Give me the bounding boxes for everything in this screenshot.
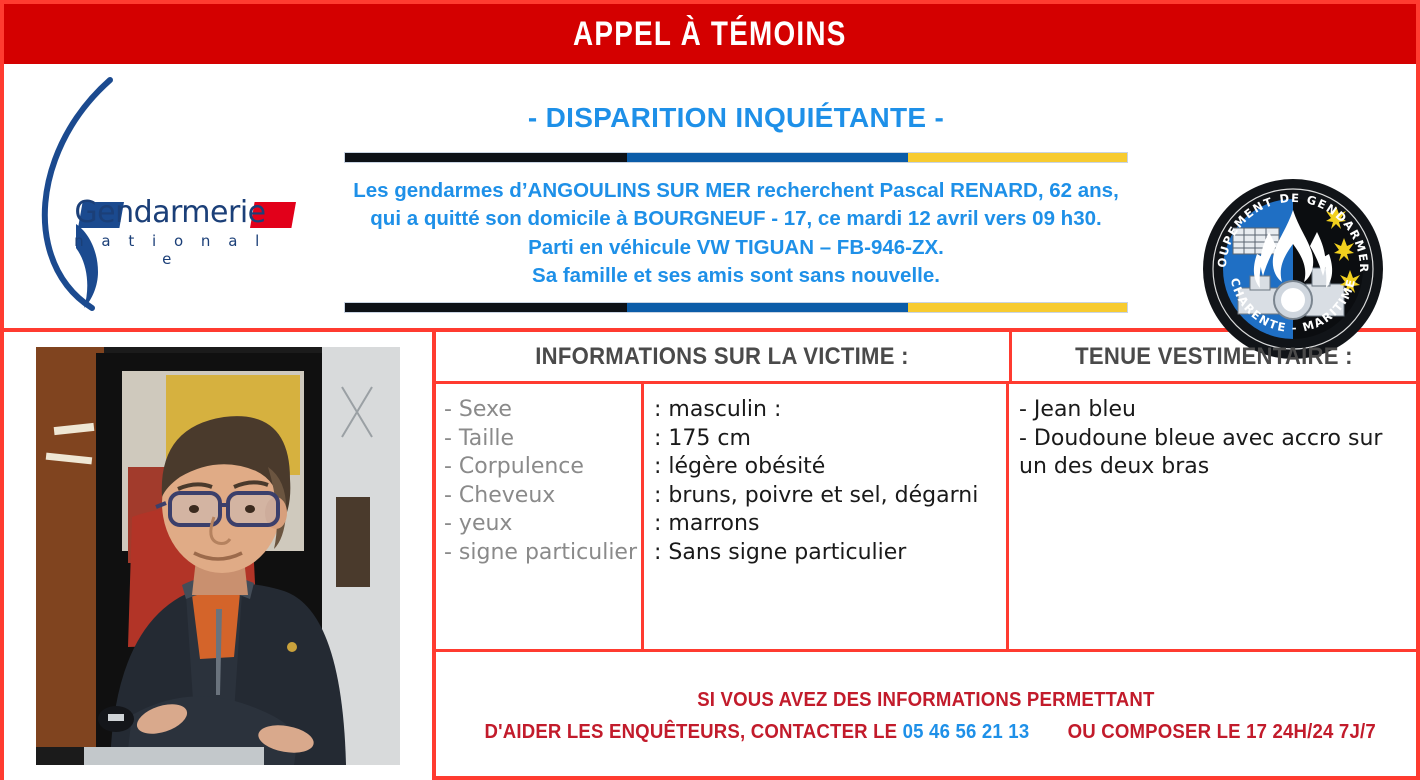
tricolor-segment-yellow	[908, 303, 1127, 312]
list-item: : Sans signe particulier	[654, 539, 1006, 568]
gendarmerie-nationale-logo: Gendarmerie n a t i o n a l e	[18, 74, 286, 314]
details-section: INFORMATIONS SUR LA VICTIME : TENUE VEST…	[4, 332, 1416, 780]
tricolor-segment-black	[345, 303, 627, 312]
notice-line-2: qui a quitté son domicile à BOURGNEUF - …	[266, 205, 1206, 233]
clothing-description: - Jean bleu - Doudoune bleue avec accro …	[1009, 384, 1413, 649]
victim-attribute-labels: - Sexe - Taille - Corpulence - Cheveux -…	[436, 384, 644, 649]
notice-line-1: Les gendarmes d’ANGOULINS SUR MER recher…	[266, 177, 1206, 205]
contact-text: SI VOUS AVEZ DES INFORMATIONS PERMETTANT…	[436, 684, 1416, 749]
victim-photo-illustration	[36, 347, 400, 765]
photo-cell	[4, 332, 436, 780]
notice-text-column: - DISPARITION INQUIÉTANTE - Les gendarme…	[266, 64, 1206, 332]
contact-line-2: D'AIDER LES ENQUÊTEURS, CONTACTER LE 05 …	[485, 716, 1030, 748]
contact-line-2-prefix: D'AIDER LES ENQUÊTEURS, CONTACTER LE	[485, 721, 903, 743]
logo-word: Gendarmerie	[70, 198, 270, 228]
logo-arc-icon	[18, 74, 286, 314]
victim-photo	[36, 347, 400, 765]
table-header-row: INFORMATIONS SUR LA VICTIME : TENUE VEST…	[436, 332, 1416, 384]
notice-headline: - DISPARITION INQUIÉTANTE -	[266, 102, 1206, 134]
header-victim-info: INFORMATIONS SUR LA VICTIME :	[436, 332, 1012, 384]
victim-attribute-values: : masculin : : 175 cm : légère obésité :…	[644, 384, 1009, 649]
list-item: - Jean bleu	[1019, 396, 1413, 425]
header-clothing: TENUE VESTIMENTAIRE :	[1012, 332, 1416, 384]
list-item: - Sexe	[444, 396, 641, 425]
list-item: : masculin :	[654, 396, 1006, 425]
details-table: INFORMATIONS SUR LA VICTIME : TENUE VEST…	[436, 332, 1416, 780]
tricolor-segment-black	[345, 153, 627, 162]
list-item: - Cheveux	[444, 482, 641, 511]
contact-line-1: SI VOUS AVEZ DES INFORMATIONS PERMETTANT	[697, 684, 1154, 716]
header-clothing-label: TENUE VESTIMENTAIRE :	[1075, 343, 1353, 371]
table-detail-row: - Sexe - Taille - Corpulence - Cheveux -…	[436, 384, 1416, 649]
page-title: APPEL À TÉMOINS	[573, 15, 847, 54]
list-item: : bruns, poivre et sel, dégarni	[654, 482, 1006, 511]
appel-a-temoins-poster: APPEL À TÉMOINS Gendarmerie n a t i o n …	[0, 0, 1420, 780]
tricolor-segment-blue	[627, 303, 909, 312]
list-item: - Doudoune bleue avec accro sur	[1019, 425, 1413, 454]
list-item: - Corpulence	[444, 453, 641, 482]
contact-banner: SI VOUS AVEZ DES INFORMATIONS PERMETTANT…	[436, 649, 1416, 780]
list-item: - yeux	[444, 510, 641, 539]
contact-phone[interactable]: 05 46 56 21 13	[903, 721, 1030, 743]
list-item: : légère obésité	[654, 453, 1006, 482]
notice-line-3: Parti en véhicule VW TIGUAN – FB-946-ZX.	[266, 234, 1206, 262]
notice-section: Gendarmerie n a t i o n a l e - DISPARIT…	[4, 64, 1416, 332]
header-victim-info-label: INFORMATIONS SUR LA VICTIME :	[536, 343, 910, 371]
tricolor-bar-bottom	[344, 302, 1128, 313]
notice-line-4: Sa famille et ses amis sont sans nouvell…	[266, 262, 1206, 290]
tricolor-segment-yellow	[908, 153, 1127, 162]
list-item: - Taille	[444, 425, 641, 454]
list-item: un des deux bras	[1019, 453, 1413, 482]
contact-line-3: OU COMPOSER LE 17 24H/24 7J/7	[1068, 716, 1376, 748]
list-item: : 175 cm	[654, 425, 1006, 454]
notice-body: Les gendarmes d’ANGOULINS SUR MER recher…	[266, 177, 1206, 290]
tricolor-bar-top	[344, 152, 1128, 163]
list-item: : marrons	[654, 510, 1006, 539]
list-item: - signe particulier	[444, 539, 641, 568]
logo-caption: Gendarmerie n a t i o n a l e	[70, 198, 270, 268]
title-banner: APPEL À TÉMOINS	[4, 4, 1416, 64]
logo-subtitle: n a t i o n a l e	[70, 232, 270, 268]
tricolor-segment-blue	[627, 153, 909, 162]
